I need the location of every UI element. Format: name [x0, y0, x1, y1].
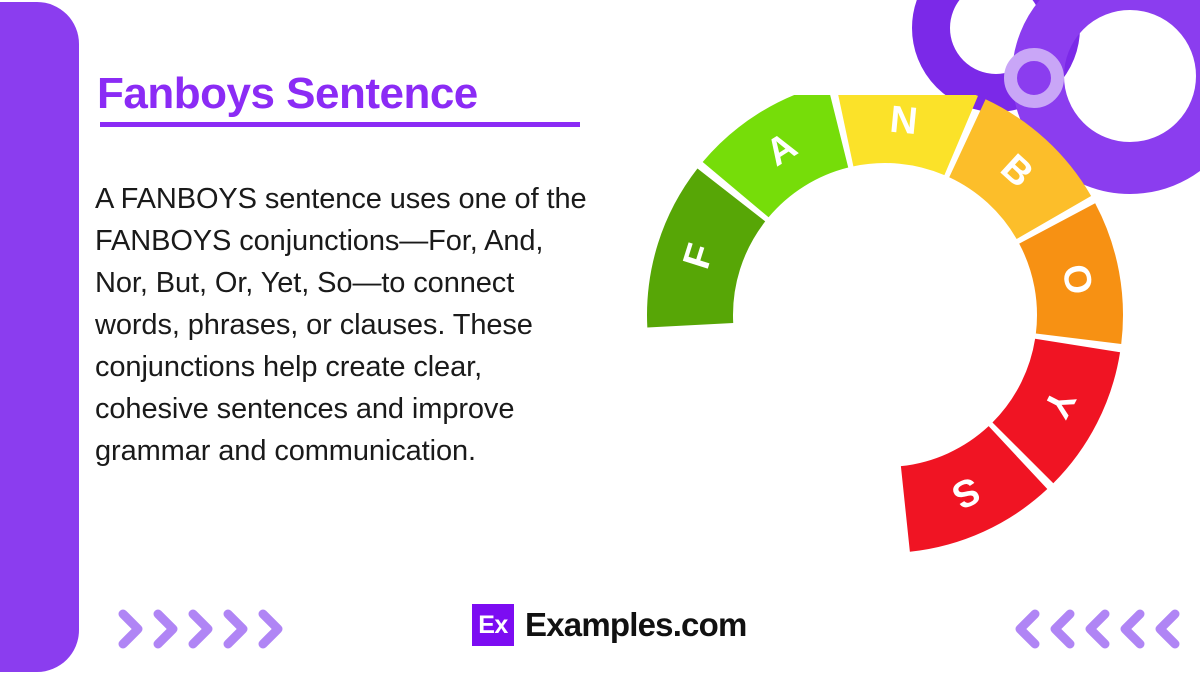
brand-mark-square: Ex: [472, 604, 514, 646]
chevrons-right-pointing-group: [118, 604, 284, 654]
page-title-underline: [100, 122, 580, 127]
left-purple-bar: [0, 2, 79, 672]
chevron-right-icon: [258, 609, 284, 649]
fanboys-arc-diagram: FANBOYS: [600, 95, 1180, 555]
description-paragraph: A FANBOYS sentence uses one of the FANBO…: [95, 178, 590, 472]
arc-letter-n: N: [888, 99, 919, 143]
chevron-right-icon: [223, 609, 249, 649]
chevron-left-icon: [1049, 609, 1075, 649]
chevron-right-icon: [188, 609, 214, 649]
chevron-left-icon: [1084, 609, 1110, 649]
chevron-left-icon: [1014, 609, 1040, 649]
chevron-left-icon: [1154, 609, 1180, 649]
chevrons-left-pointing-group: [1014, 604, 1180, 654]
slide-canvas: Fanboys Sentence A FANBOYS sentence uses…: [0, 0, 1200, 675]
arc-svg: FANBOYS: [600, 95, 1180, 555]
chevron-right-icon: [153, 609, 179, 649]
chevron-left-icon: [1119, 609, 1145, 649]
chevron-right-icon: [118, 609, 144, 649]
page-title: Fanboys Sentence: [97, 69, 478, 119]
brand-name-text: Examples.com: [525, 606, 747, 644]
brand-logo[interactable]: Ex Examples.com: [472, 604, 747, 646]
